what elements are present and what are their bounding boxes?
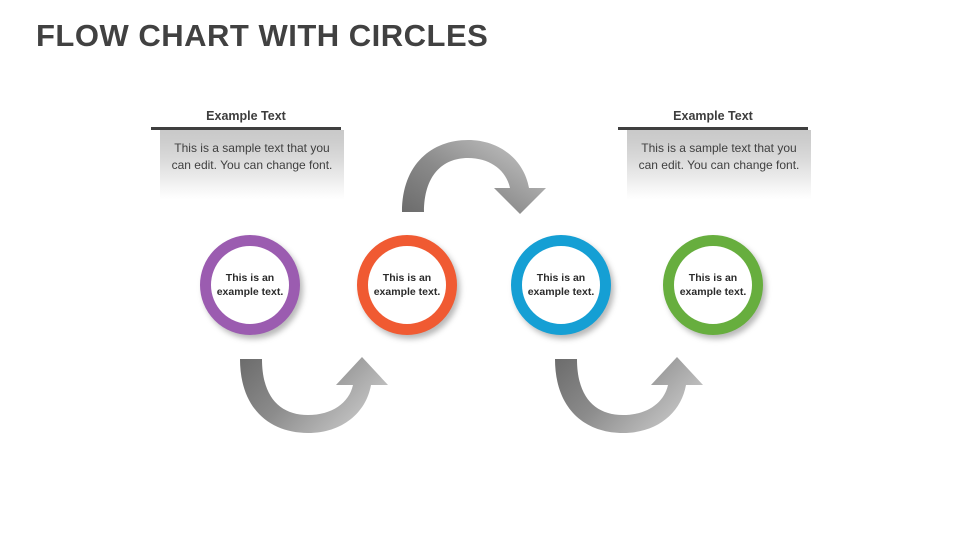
caption-body-left: This is a sample text that you can edit.… — [160, 130, 344, 200]
caption-body-right: This is a sample text that you can edit.… — [627, 130, 811, 200]
flow-circle-2-label: This is an example text. — [368, 271, 446, 299]
flow-circle-1[interactable]: This is an example text. — [200, 235, 300, 335]
flow-circle-1-label: This is an example text. — [211, 271, 289, 299]
page-title: FLOW CHART WITH CIRCLES — [36, 18, 488, 54]
caption-heading-right: Example Text — [618, 108, 808, 127]
curved-arrow-down-right-icon — [551, 355, 717, 437]
slide-canvas: FLOW CHART WITH CIRCLES Example Text Thi… — [0, 0, 960, 540]
flow-circle-3-label: This is an example text. — [522, 271, 600, 299]
caption-block-left: Example Text This is a sample text that … — [151, 108, 341, 200]
caption-heading-left: Example Text — [151, 108, 341, 127]
flow-circle-2[interactable]: This is an example text. — [357, 235, 457, 335]
flow-circle-4-label: This is an example text. — [674, 271, 752, 299]
curved-arrow-up-top-icon — [396, 138, 556, 216]
caption-block-right: Example Text This is a sample text that … — [618, 108, 808, 200]
curved-arrow-down-left-icon — [236, 355, 402, 437]
flow-circle-4[interactable]: This is an example text. — [663, 235, 763, 335]
flow-circle-3[interactable]: This is an example text. — [511, 235, 611, 335]
